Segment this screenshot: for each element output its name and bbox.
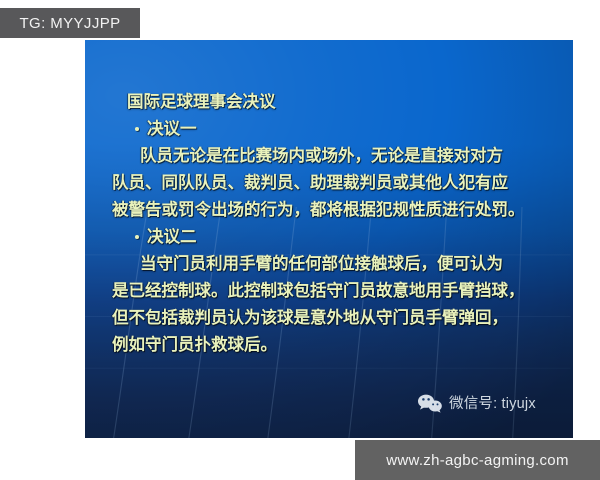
slide-bullet-2-label: 决议二 — [147, 223, 197, 250]
slide-paragraph-2-line-4: 例如守门员扑救球后。 — [85, 331, 573, 358]
wechat-icon — [417, 393, 443, 413]
bullet-dot-icon — [135, 127, 139, 131]
wechat-watermark: 微信号: tiyujx — [417, 392, 536, 413]
slide-title: 国际足球理事会决议 — [85, 88, 573, 115]
slide-bullet-1-label: 决议一 — [147, 115, 197, 142]
slide-paragraph-2-line-2: 是已经控制球。此控制球包括守门员故意地用手臂挡球， — [85, 277, 573, 304]
presentation-slide: 国际足球理事会决议 决议一 队员无论是在比赛场内或场外，无论是直接对对方 队员、… — [85, 40, 573, 438]
wechat-id-label: 微信号: tiyujx — [449, 392, 536, 413]
slide-paragraph-2-line-1: 当守门员利用手臂的任何部位接触球后，便可认为 — [85, 250, 573, 277]
slide-text-block: 国际足球理事会决议 决议一 队员无论是在比赛场内或场外，无论是直接对对方 队员、… — [85, 40, 573, 358]
url-watermark-label: www.zh-agbc-agming.com — [386, 452, 569, 469]
slide-paragraph-1-line-2: 队员、同队队员、裁判员、助理裁判员或其他人犯有应 — [85, 169, 573, 196]
slide-bullet-1: 决议一 — [85, 115, 573, 142]
slide-bullet-2: 决议二 — [85, 223, 573, 250]
bullet-dot-icon — [135, 235, 139, 239]
slide-paragraph-2-line-3: 但不包括裁判员认为该球是意外地从守门员手臂弹回， — [85, 304, 573, 331]
tg-watermark-badge: TG: MYYJJPP — [0, 8, 140, 38]
slide-paragraph-1-line-1: 队员无论是在比赛场内或场外，无论是直接对对方 — [85, 142, 573, 169]
url-watermark-bar: www.zh-agbc-agming.com — [355, 440, 600, 480]
tg-watermark-label: TG: MYYJJPP — [19, 15, 120, 32]
slide-paragraph-1-line-3: 被警告或罚令出场的行为，都将根据犯规性质进行处罚。 — [85, 196, 573, 223]
